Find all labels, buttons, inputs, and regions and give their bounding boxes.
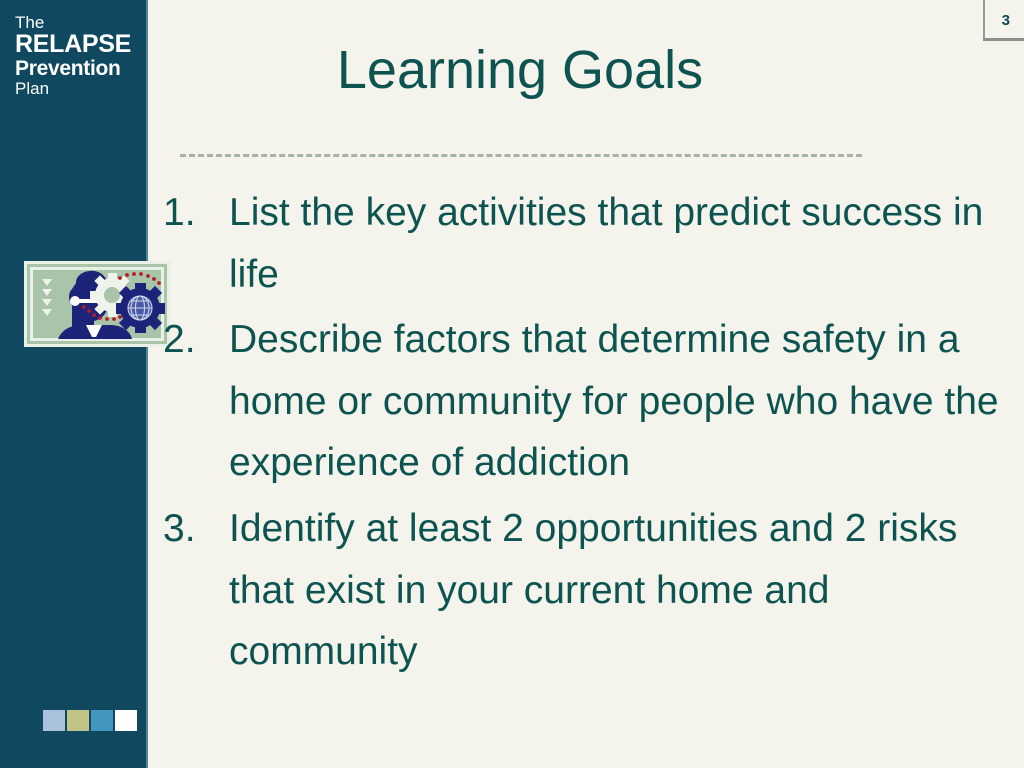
swatch-light-blue [43,710,65,731]
list-item: 2. Describe factors that determine safet… [163,309,1008,494]
brand-line-the: The [15,14,143,31]
swatch-olive [67,710,89,731]
list-item-text: List the key activities that predict suc… [229,182,1008,305]
page-number: 3 [984,12,1010,29]
slide-canvas: The RELAPSE Prevention Plan [0,0,1024,768]
title-divider [180,154,862,157]
head-with-gears-icon [24,261,170,347]
page-number-horizontal-rule [983,38,1024,41]
learning-goals-list: 1. List the key activities that predict … [163,182,1008,687]
brand-line-prevention: Prevention [15,58,143,79]
color-swatch-row [43,710,137,731]
brand-line-plan: Plan [15,80,143,97]
sidebar-edge-divider [146,0,148,768]
swatch-blue [91,710,113,731]
page-title: Learning Goals [170,42,870,99]
brand-line-relapse: RELAPSE [15,32,143,57]
list-item: 3. Identify at least 2 opportunities and… [163,498,1008,683]
list-item-number: 2. [163,309,229,371]
list-item-text: Describe factors that determine safety i… [229,309,1008,494]
list-item-number: 1. [163,182,229,244]
list-item-text: Identify at least 2 opportunities and 2 … [229,498,1008,683]
swatch-white [115,710,137,731]
list-item-number: 3. [163,498,229,560]
list-item: 1. List the key activities that predict … [163,182,1008,305]
brand-logo: The RELAPSE Prevention Plan [15,14,143,97]
sidebar [0,0,146,768]
